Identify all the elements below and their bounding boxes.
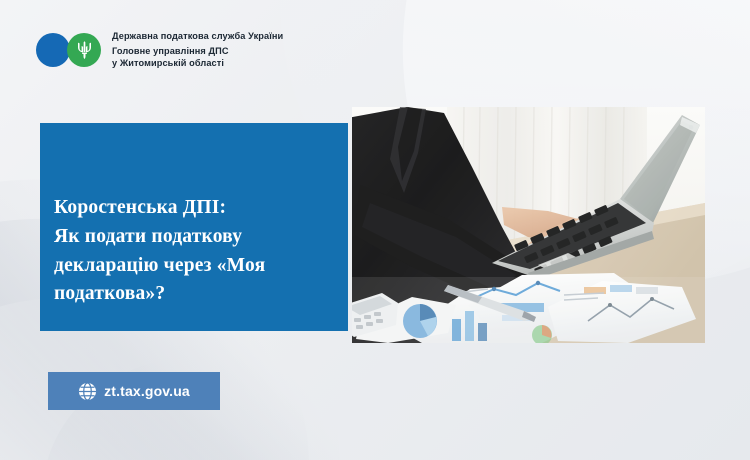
page-title: Коростенська ДПІ: Як подати податкову де… bbox=[54, 194, 265, 309]
brand-lockup: Державна податкова служба України Головн… bbox=[36, 31, 283, 69]
globe-icon bbox=[78, 382, 97, 401]
headline-panel: Коростенська ДПІ: Як подати податкову де… bbox=[40, 123, 348, 331]
website-url-bar[interactable]: zt.tax.gov.ua bbox=[48, 372, 220, 410]
poster-canvas: Державна податкова служба України Головн… bbox=[0, 0, 750, 460]
green-circle-trident-icon bbox=[67, 33, 101, 67]
brand-text: Державна податкова служба України Головн… bbox=[112, 31, 283, 69]
logo bbox=[36, 33, 101, 67]
website-url-text: zt.tax.gov.ua bbox=[104, 383, 190, 399]
brand-line-region: у Житомирській області bbox=[112, 58, 283, 70]
brand-line-division: Головне управління ДПС bbox=[112, 46, 283, 58]
hero-photo bbox=[352, 107, 705, 343]
brand-line-agency: Державна податкова служба України bbox=[112, 31, 283, 43]
blue-circle-icon bbox=[36, 33, 70, 67]
